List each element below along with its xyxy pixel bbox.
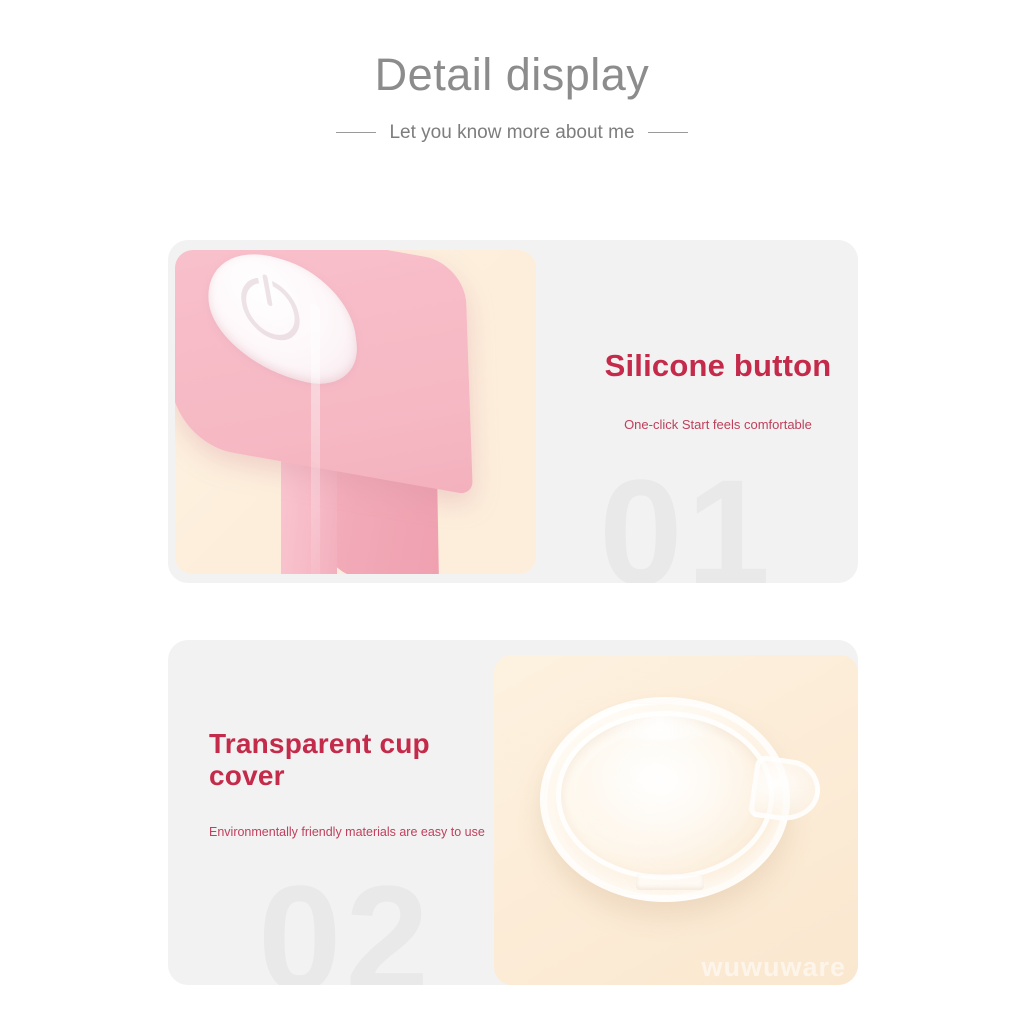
lid-bottom-tab <box>636 874 704 890</box>
card-title: Transparent cup cover <box>209 728 489 792</box>
pink-device-illustration <box>175 250 499 538</box>
card-text-block: Transparent cup cover Environmentally fr… <box>209 728 489 841</box>
card-description: One-click Start feels comfortable <box>583 416 853 434</box>
power-icon <box>236 272 304 345</box>
card-title: Silicone button <box>583 348 853 383</box>
page-title: Detail display <box>0 0 1024 100</box>
lid-highlight <box>600 713 720 741</box>
device-top-face <box>175 250 473 495</box>
page-subtitle: Let you know more about me <box>389 122 634 144</box>
card-text-block: Silicone button One-click Start feels co… <box>583 348 853 434</box>
card-number-watermark: 01 <box>599 457 774 583</box>
product-photo-silicone-button <box>175 250 536 574</box>
card-number-watermark: 02 <box>258 863 433 985</box>
divider-line-right <box>648 132 688 133</box>
device-edge-highlight <box>311 302 320 574</box>
photo-watermark: wuwuware <box>701 952 846 983</box>
detail-card-silicone-button: 01 Silicone button One-click Start feels… <box>168 240 858 583</box>
transparent-lid-illustration <box>540 697 790 902</box>
product-photo-cup-cover: wuwuware <box>494 655 858 985</box>
subtitle-row: Let you know more about me <box>0 122 1024 144</box>
page-header: Detail display Let you know more about m… <box>0 0 1024 144</box>
detail-card-transparent-cup-cover: 02 Transparent cup cover Environmentally… <box>168 640 858 985</box>
card-description: Environmentally friendly materials are e… <box>209 824 489 841</box>
divider-line-left <box>336 132 376 133</box>
lid-inner-surface <box>576 731 754 858</box>
silicone-button-pad <box>201 250 363 398</box>
